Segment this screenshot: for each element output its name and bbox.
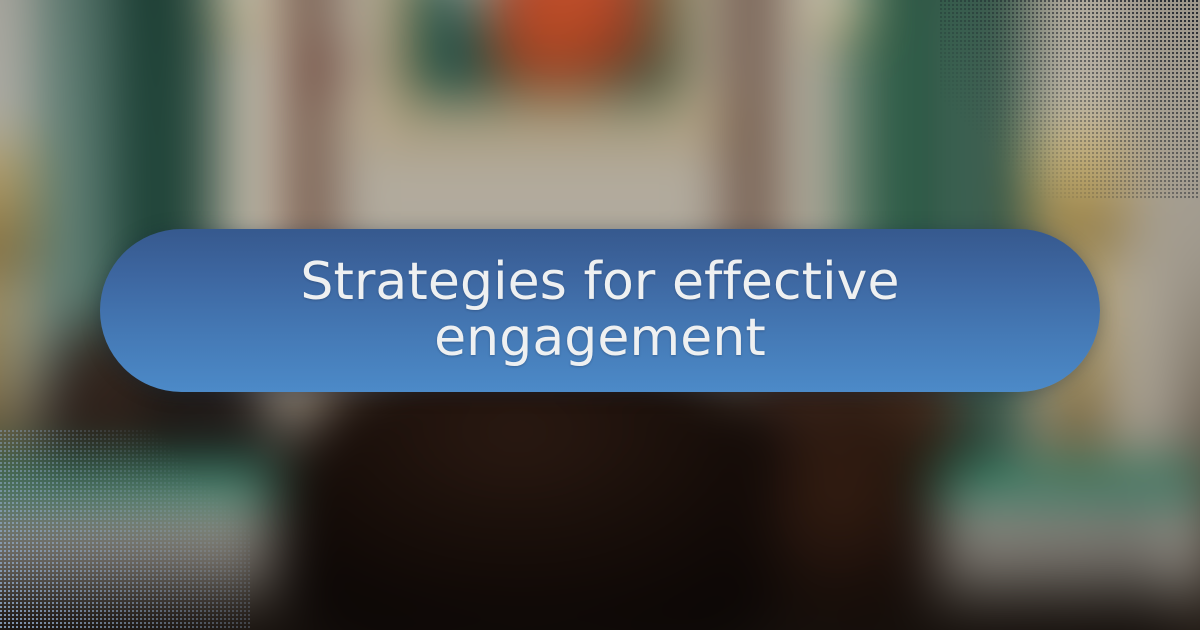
- page-title: Strategies for effective engagement: [250, 255, 950, 365]
- banner-canvas: Strategies for effective engagement: [0, 0, 1200, 630]
- title-pill: Strategies for effective engagement: [100, 229, 1100, 392]
